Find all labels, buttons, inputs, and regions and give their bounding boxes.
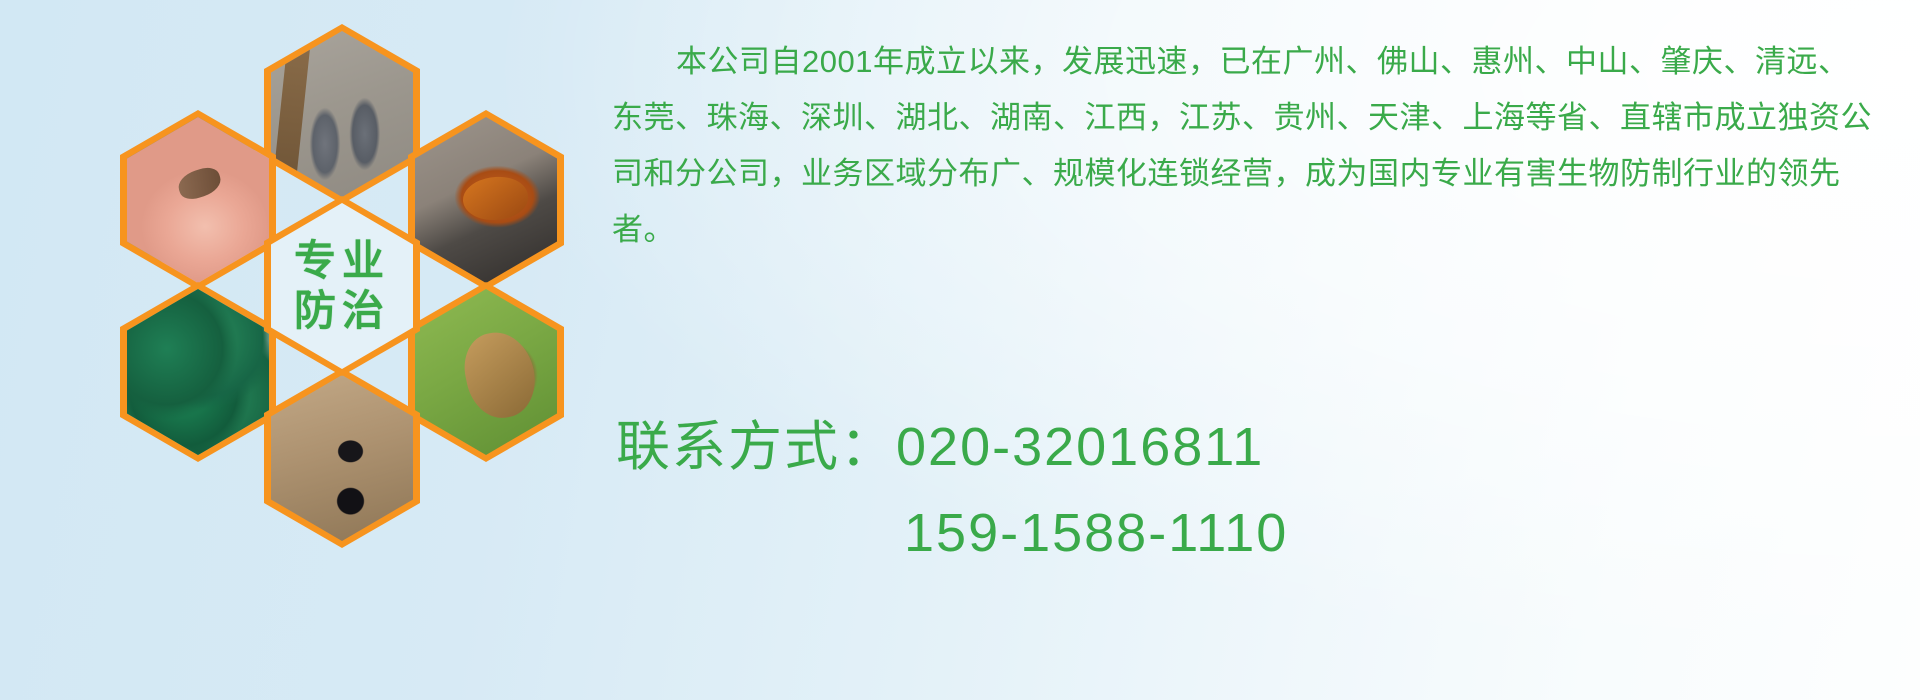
contact-label: 联系方式： — [616, 417, 896, 477]
slogan-text: 专业 防治 — [294, 236, 390, 335]
slogan-line-1: 专业 — [294, 236, 390, 286]
phone-primary[interactable]: 020-32016811 — [896, 417, 1264, 477]
hex-flies — [120, 282, 276, 462]
ant-pest-photo — [271, 375, 413, 541]
contact-primary-line: 联系方式：020-32016811 — [616, 404, 1916, 490]
hex-center-slogan: 专业 防治 — [264, 196, 420, 376]
cockroach-pest-photo — [415, 117, 557, 283]
rodent-pest-photo — [271, 31, 413, 197]
hex-cockroach — [408, 110, 564, 290]
hex-mosquito — [120, 110, 276, 290]
intro-copy-block: 本公司自2001年成立以来，发展迅速，已在广州、佛山、惠州、中山、肇庆、清远、东… — [612, 34, 1880, 258]
phone-secondary[interactable]: 159-1588-1110 — [904, 503, 1288, 563]
flies-pest-photo — [127, 289, 269, 455]
contact-block: 联系方式：020-32016811 159-1588-1110 — [616, 404, 1916, 576]
honeycomb-image-cluster: 专业 防治 — [92, 10, 582, 570]
mosquito-pest-photo — [127, 117, 269, 283]
stinkbug-pest-photo — [415, 289, 557, 455]
promo-banner: 专业 防治 本公司自2001年成立以来，发展迅速，已在广州、佛山、惠州、中山、肇… — [0, 0, 1920, 700]
contact-secondary-line: 159-1588-1110 — [616, 490, 1916, 576]
hex-stinkbug — [408, 282, 564, 462]
intro-paragraph: 本公司自2001年成立以来，发展迅速，已在广州、佛山、惠州、中山、肇庆、清远、东… — [612, 34, 1880, 258]
hex-ant — [264, 368, 420, 548]
hex-rats — [264, 24, 420, 204]
slogan-line-2: 防治 — [294, 286, 390, 336]
